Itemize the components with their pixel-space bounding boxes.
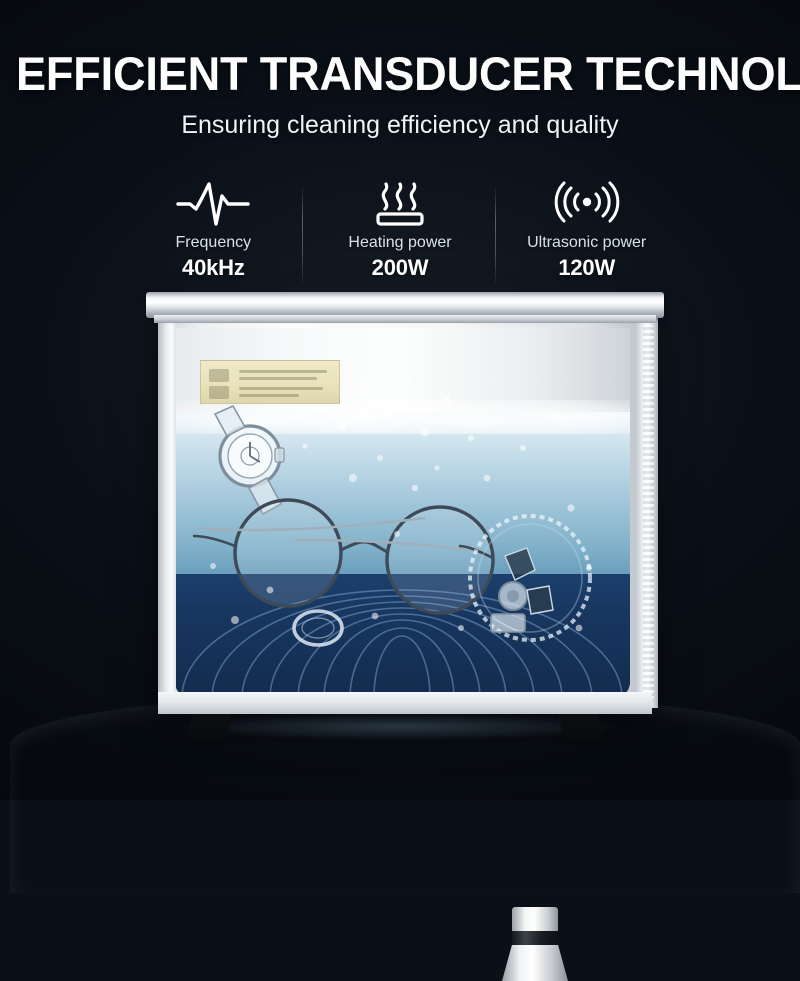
transducer-base (502, 945, 568, 981)
waveform-pulse-icon (176, 178, 250, 230)
rim-lip (154, 315, 656, 323)
eyeglasses (193, 500, 493, 613)
metal-parts (491, 548, 553, 632)
instruction-label (200, 360, 340, 404)
cleaner-base-plate (158, 692, 652, 714)
spec-value: 40kHz (182, 255, 245, 281)
rubber-foot-right (558, 712, 604, 744)
spec-item-ultrasonic-power: Ultrasonic power 120W (493, 178, 680, 290)
transducer-band (512, 931, 558, 946)
spec-label: Heating power (348, 234, 451, 252)
page-subtitle: Ensuring cleaning efficiency and quality (0, 110, 800, 140)
spec-row: Frequency 40kHz Heating power 200W (120, 178, 680, 290)
cleaning-tank (175, 328, 630, 698)
wristwatch (215, 406, 284, 514)
spec-label: Frequency (176, 234, 252, 252)
spec-item-frequency: Frequency 40kHz (120, 178, 307, 290)
spec-item-heating-power: Heating power 200W (307, 178, 494, 290)
ultrasonic-cleaner (140, 288, 670, 738)
ultrasonic-wave-icon (554, 178, 620, 230)
spec-value: 120W (558, 255, 615, 281)
cleaner-left-edge (158, 318, 176, 710)
page-title: EFFICIENT TRANSDUCER TECHNOLOGY (16, 48, 784, 100)
corner-post-texture (643, 324, 654, 702)
heating-element-icon (370, 178, 430, 230)
transducer-body (512, 907, 558, 933)
ring (294, 611, 342, 645)
spec-value: 200W (372, 255, 429, 281)
rubber-foot-left (186, 712, 232, 744)
spec-label: Ultrasonic power (527, 234, 646, 252)
